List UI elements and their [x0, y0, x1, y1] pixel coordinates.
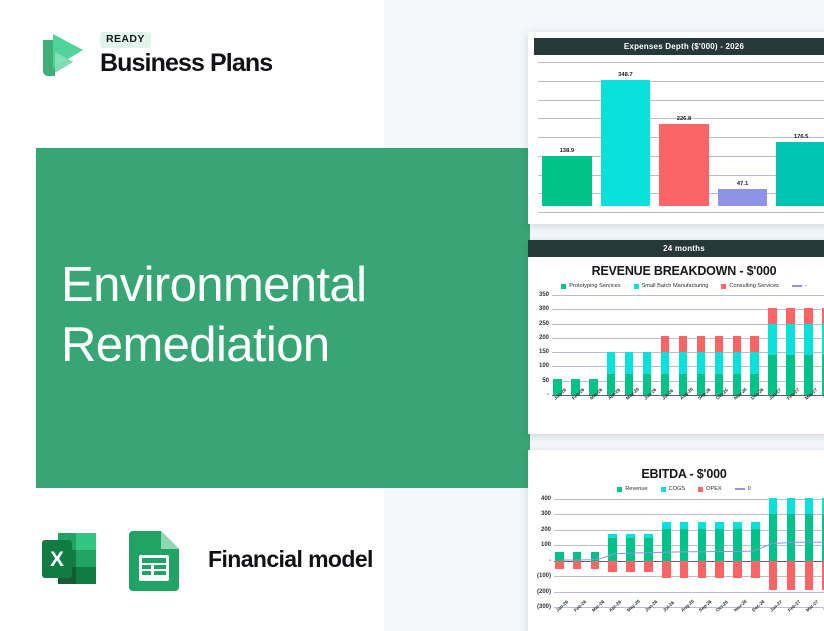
- expenses-bar-label: 138.9: [542, 148, 592, 154]
- legend-item: Prototyping Services: [561, 283, 620, 289]
- chart-card-ebitda[interactable]: EBITDA - $'000 RevenueCOGSOPEX0 40030020…: [528, 450, 824, 631]
- expenses-bar-label: 47.1: [718, 181, 768, 187]
- gridline: [538, 212, 824, 213]
- column-segment[interactable]: [750, 352, 759, 373]
- legend-item: Small Batch Manufacturing: [634, 283, 709, 289]
- column[interactable]: [750, 295, 759, 395]
- expenses-chart-header: Expenses Depth ($'000) - 2026: [534, 38, 824, 55]
- legend-swatch-1: [634, 284, 639, 289]
- legend-label: COGS: [669, 486, 685, 492]
- revenue-chart-header: 24 months: [528, 240, 824, 257]
- expenses-bar-label: 176.5: [776, 134, 824, 140]
- zero-line-series: [554, 499, 824, 607]
- y-axis-tick: -: [547, 392, 549, 398]
- legend-swatch-1: [661, 487, 666, 492]
- slide-canvas: READY Business Plans Environmental Remed…: [0, 0, 824, 631]
- microsoft-excel-icon: X: [36, 525, 104, 593]
- column[interactable]: [715, 295, 724, 395]
- legend-swatch-0: [561, 284, 566, 289]
- ebitda-chart-legend: RevenueCOGSOPEX0: [528, 481, 824, 492]
- x-axis: Jan-26Feb-26Mar-26Apr-26May-26Jun-26Jul-…: [554, 607, 824, 614]
- expenses-bar[interactable]: [601, 80, 651, 206]
- y-axis-tick: (300): [537, 604, 551, 610]
- x-axis: Jan-26Feb-26Mar-26Apr-26May-26Jun-26Jul-…: [552, 395, 824, 402]
- legend-item: COGS: [661, 486, 685, 492]
- column-segment[interactable]: [679, 336, 688, 352]
- column[interactable]: [589, 295, 598, 395]
- column-segment[interactable]: [679, 352, 688, 373]
- google-sheets-icon: [123, 525, 185, 593]
- revenue-plot-area: 35030025020015010050-Jan-26Feb-26Mar-26A…: [552, 295, 824, 395]
- column[interactable]: [643, 295, 652, 395]
- ebitda-chart-title: EBITDA - $'000: [528, 450, 824, 481]
- column[interactable]: [733, 295, 742, 395]
- y-axis-tick: (100): [537, 573, 551, 579]
- financial-model-label: Financial model: [208, 546, 373, 573]
- ebitda-plot-area: 400300200100-(100)(200)(300)Jan-26Feb-26…: [554, 499, 824, 607]
- column[interactable]: [697, 295, 706, 395]
- legend-item: OPEX: [698, 486, 722, 492]
- brand-name: Business Plans: [100, 50, 272, 76]
- legend-swatch-2: [698, 487, 703, 492]
- column-segment[interactable]: [768, 324, 777, 355]
- column-segment[interactable]: [804, 308, 813, 324]
- y-axis-tick: -: [549, 558, 551, 564]
- expenses-bar-item[interactable]: 47.1: [718, 62, 768, 206]
- column[interactable]: [553, 295, 562, 395]
- expenses-bar-label: 348.7: [601, 72, 651, 78]
- expenses-bar-item[interactable]: 226.8: [659, 62, 709, 206]
- column-segment[interactable]: [661, 336, 670, 352]
- legend-label: Consulting Services: [729, 283, 778, 289]
- y-axis-tick: 300: [539, 306, 549, 312]
- legend-label: Revenue: [625, 486, 647, 492]
- y-axis-tick: 400: [541, 496, 551, 502]
- revenue-chart-title: REVENUE BREAKDOWN - $'000: [528, 257, 824, 278]
- legend-label: Small Batch Manufacturing: [642, 283, 709, 289]
- column[interactable]: [679, 295, 688, 395]
- legend-item: Consulting Services: [721, 283, 778, 289]
- column-segment[interactable]: [625, 352, 634, 373]
- page-title-line1: Environmental: [61, 255, 521, 315]
- format-icons-row: X Financial model: [36, 525, 373, 593]
- y-axis-tick: 250: [539, 321, 549, 327]
- legend-label: -: [805, 283, 807, 289]
- y-axis-tick: 200: [541, 527, 551, 533]
- y-axis-tick: 300: [541, 511, 551, 517]
- ready-badge: READY: [100, 32, 151, 48]
- column[interactable]: [804, 295, 813, 395]
- legend-swatch-0: [617, 487, 622, 492]
- expenses-plot-area: 138.9348.7226.847.1176.5: [538, 62, 824, 212]
- legend-swatch-3: [735, 488, 745, 490]
- legend-label: OPEX: [706, 486, 722, 492]
- column[interactable]: [786, 295, 795, 395]
- expenses-bar[interactable]: [659, 124, 709, 206]
- expenses-bar-item[interactable]: 138.9: [542, 62, 592, 206]
- column-segment[interactable]: [643, 352, 652, 373]
- column[interactable]: [607, 295, 616, 395]
- legend-item: Revenue: [617, 486, 647, 492]
- column-segment[interactable]: [697, 352, 706, 373]
- brand-text-wrap: READY Business Plans: [100, 32, 272, 76]
- revenue-chart-legend: Prototyping ServicesSmall Batch Manufact…: [528, 278, 824, 289]
- expenses-bar-item[interactable]: 176.5: [776, 62, 824, 206]
- column-segment[interactable]: [733, 352, 742, 373]
- column-segment[interactable]: [733, 336, 742, 352]
- chart-card-revenue[interactable]: 24 months REVENUE BREAKDOWN - $'000 Prot…: [528, 240, 824, 434]
- column-segment[interactable]: [786, 324, 795, 355]
- expenses-bar[interactable]: [718, 189, 768, 206]
- y-axis-tick: 200: [539, 335, 549, 341]
- column[interactable]: [625, 295, 634, 395]
- expenses-bar-group: 138.9348.7226.847.1176.5: [542, 62, 824, 206]
- column[interactable]: [661, 295, 670, 395]
- column-segment[interactable]: [715, 336, 724, 352]
- column[interactable]: [768, 295, 777, 395]
- svg-text:X: X: [50, 548, 64, 571]
- expenses-bar[interactable]: [776, 142, 824, 206]
- page-title-line2: Remediation: [61, 315, 521, 375]
- y-axis-tick: 100: [541, 542, 551, 548]
- chart-card-expenses[interactable]: Expenses Depth ($'000) - 2026 138.9348.7…: [528, 32, 824, 224]
- column-segment[interactable]: [607, 352, 616, 373]
- column-segment[interactable]: [715, 352, 724, 373]
- legend-label: Prototyping Services: [569, 283, 620, 289]
- legend-swatch-2: [721, 284, 726, 289]
- legend-swatch-3: [792, 285, 802, 287]
- column-segment[interactable]: [750, 336, 759, 352]
- column-segment[interactable]: [804, 324, 813, 355]
- expenses-bar[interactable]: [542, 156, 592, 206]
- y-axis-tick: 100: [539, 363, 549, 369]
- column-segment[interactable]: [697, 336, 706, 352]
- column-segment[interactable]: [786, 308, 795, 324]
- column-group: [552, 295, 824, 395]
- page-title: Environmental Remediation: [61, 255, 521, 376]
- legend-item: 0: [735, 486, 751, 492]
- y-axis-tick: 350: [539, 292, 549, 298]
- y-axis-tick: 150: [539, 349, 549, 355]
- y-axis-tick: (200): [537, 589, 551, 595]
- column[interactable]: [571, 295, 580, 395]
- column-segment[interactable]: [768, 308, 777, 324]
- play-triangle-logo-icon: [33, 26, 89, 82]
- legend-item: -: [792, 283, 807, 289]
- expenses-bar-label: 226.8: [659, 116, 709, 122]
- expenses-bar-item[interactable]: 348.7: [601, 62, 651, 206]
- column-segment[interactable]: [661, 352, 670, 373]
- brand-logo-block[interactable]: READY Business Plans: [33, 26, 272, 82]
- y-axis-tick: 50: [542, 378, 549, 384]
- legend-label: 0: [748, 486, 751, 492]
